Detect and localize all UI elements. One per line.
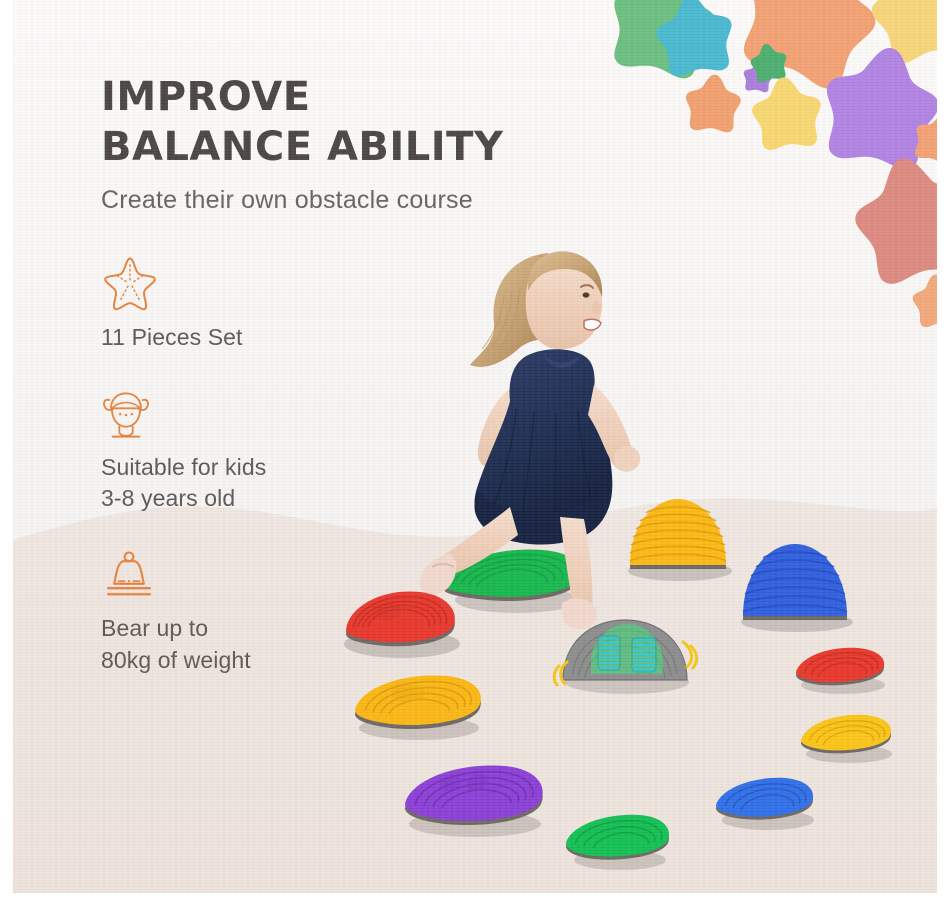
weight-icon [101, 541, 401, 603]
girl-face-icon [101, 380, 401, 442]
stone-purple-flat [391, 758, 553, 840]
product-banner: IMPROVE BALANCE ABILITY Create their own… [0, 0, 950, 903]
page-title-line2: BALANCE ABILITY [101, 122, 621, 172]
page-title-line1: IMPROVE [101, 72, 621, 122]
feature-item-age: Suitable for kids 3-8 years old [101, 380, 401, 515]
stone-red-flat-right [788, 645, 893, 697]
feature-label-age: Suitable for kids 3-8 years old [101, 452, 401, 515]
child-figure [398, 235, 698, 655]
stone-blue-flat-right [708, 775, 823, 833]
stone-yellow-flat-right [793, 712, 901, 766]
stone-blue-dome [731, 540, 859, 636]
feature-label-pieces: 11 Pieces Set [101, 322, 401, 354]
headline-block: IMPROVE BALANCE ABILITY Create their own… [101, 72, 621, 215]
stone-green-flat-bottom [558, 812, 676, 874]
feature-list: 11 Pieces Set [101, 250, 401, 703]
scene: IMPROVE BALANCE ABILITY Create their own… [13, 0, 937, 893]
feature-item-weight: Bear up to 80kg of weight [101, 541, 401, 676]
feature-label-weight: Bear up to 80kg of weight [101, 613, 401, 676]
page-subtitle: Create their own obstacle course [101, 186, 621, 215]
feature-item-pieces: 11 Pieces Set [101, 250, 401, 354]
starfish-icon [101, 250, 401, 312]
